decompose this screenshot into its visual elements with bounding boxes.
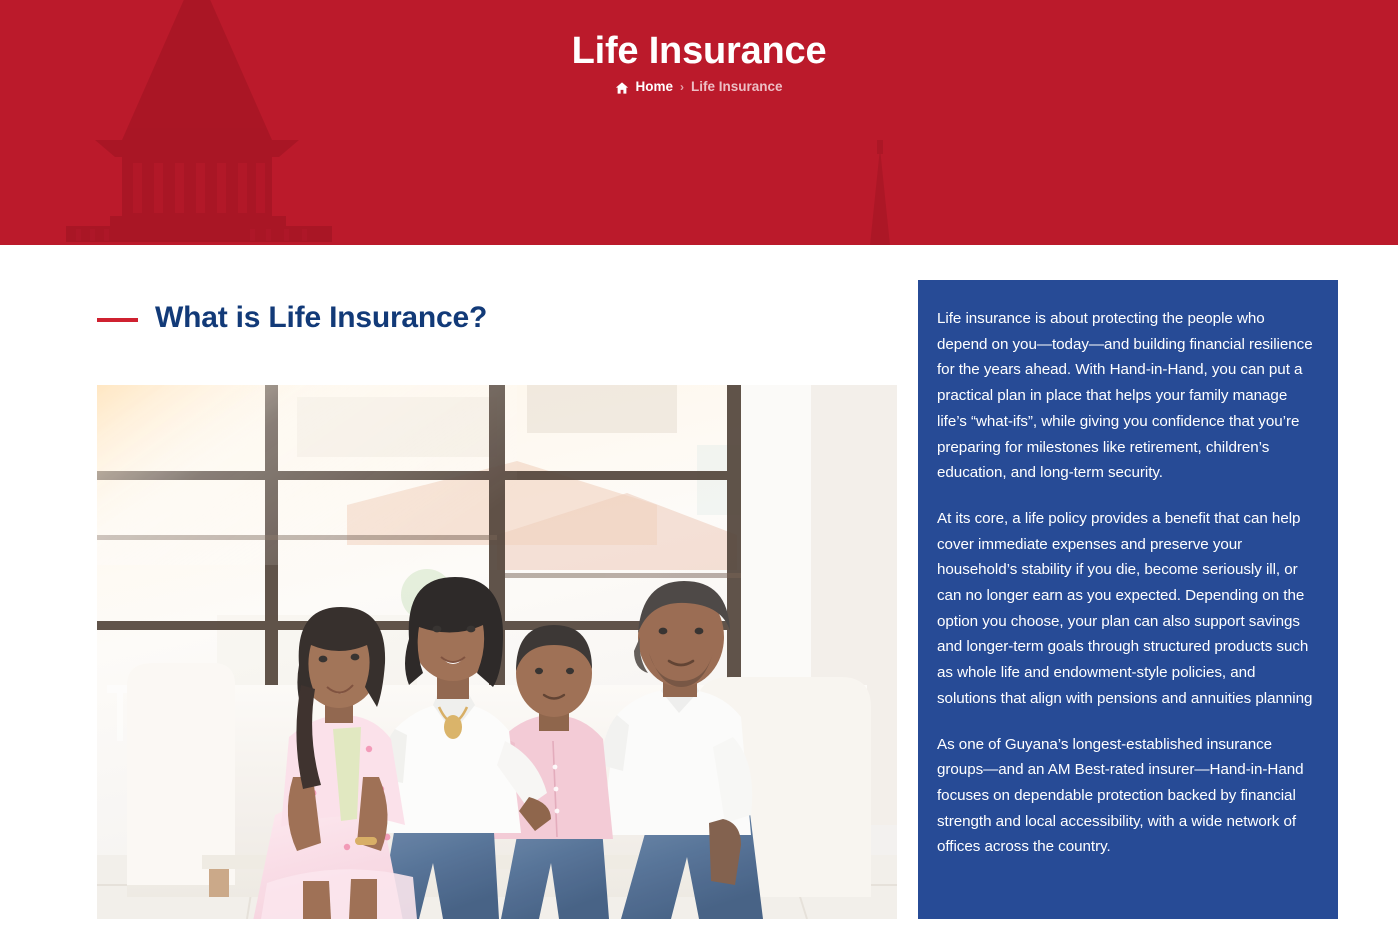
family-photo xyxy=(97,385,897,919)
page-title: Life Insurance xyxy=(0,28,1398,74)
content-wrapper: What is Life Insurance? xyxy=(0,245,1398,949)
breadcrumb-current: Life Insurance xyxy=(691,79,783,94)
info-panel: Life insurance is about protecting the p… xyxy=(918,280,1338,919)
breadcrumb: Home › Life Insurance xyxy=(0,79,1398,94)
section-heading: What is Life Insurance? xyxy=(97,300,897,336)
breadcrumb-link-home[interactable]: Home xyxy=(635,79,673,94)
panel-paragraph-3: As one of Guyana’s longest-established i… xyxy=(937,732,1316,861)
home-icon xyxy=(615,81,629,95)
hero-banner: Life Insurance Home › Life Insurance xyxy=(0,0,1398,245)
left-column: What is Life Insurance? xyxy=(97,245,897,336)
section-title: What is Life Insurance? xyxy=(155,300,487,336)
heading-accent-dash xyxy=(97,318,138,322)
panel-paragraph-1: Life insurance is about protecting the p… xyxy=(937,306,1316,486)
panel-paragraph-2: At its core, a life policy provides a be… xyxy=(937,506,1316,712)
main-content: What is Life Insurance? xyxy=(0,245,1398,949)
breadcrumb-separator-icon: › xyxy=(679,80,685,94)
